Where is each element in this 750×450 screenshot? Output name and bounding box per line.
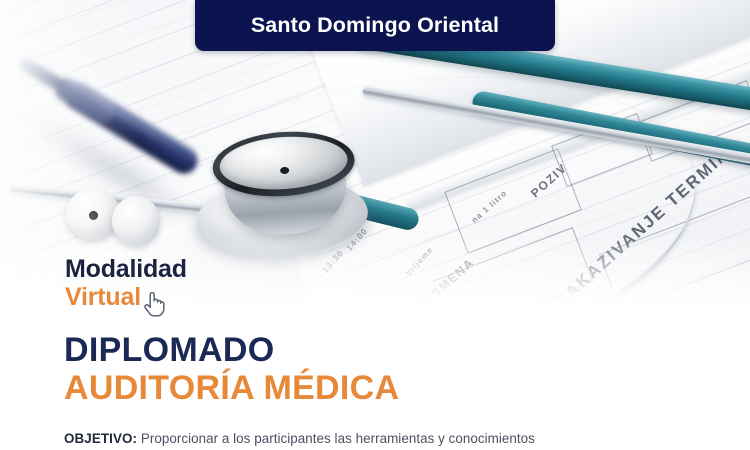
location-banner: Santo Domingo Oriental bbox=[195, 0, 555, 51]
promotional-poster: ZAKAZIVANJE TERMINA POZIV II SMENA na 1 … bbox=[0, 0, 750, 450]
modality-value: Virtual bbox=[65, 285, 141, 310]
stethoscope-chestpiece bbox=[208, 123, 361, 243]
course-type-title: DIPLOMADO bbox=[64, 333, 399, 368]
location-banner-title: Santo Domingo Oriental bbox=[251, 13, 499, 38]
objective-paragraph: OBJETIVO: Proporcionar a los participant… bbox=[64, 429, 692, 449]
modality-block: Modalidad Virtual bbox=[65, 257, 187, 310]
objective-label: OBJETIVO: bbox=[64, 431, 137, 446]
objective-text: Proporcionar a los participantes las her… bbox=[141, 431, 535, 446]
modality-label: Modalidad bbox=[65, 257, 187, 282]
course-title-block: DIPLOMADO AUDITORÍA MÉDICA bbox=[64, 333, 399, 405]
pointing-hand-cursor-icon bbox=[141, 290, 165, 318]
course-name-title: AUDITORÍA MÉDICA bbox=[64, 371, 399, 406]
modality-value-row: Virtual bbox=[65, 285, 187, 310]
